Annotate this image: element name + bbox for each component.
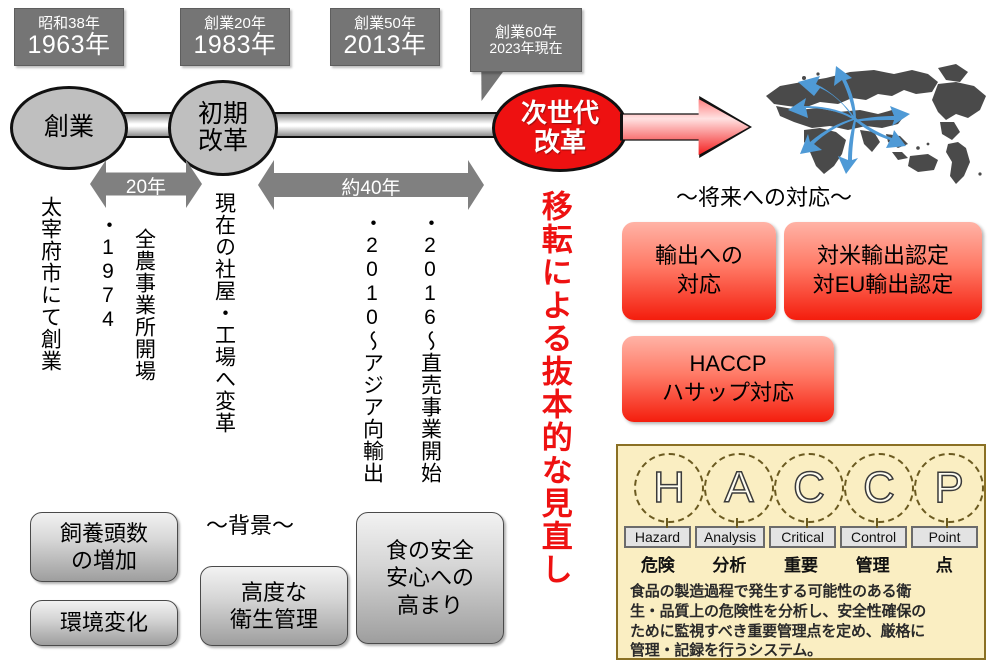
year-label-era: 創業20年	[204, 16, 266, 32]
haccp-circle-c2: C	[844, 453, 914, 523]
haccp-description: 食品の製造過程で発生する可能性のある衛 生・品質上の危険性を分析し、安全性確保の…	[624, 580, 978, 661]
haccp-letter: H	[653, 466, 685, 510]
haccp-term-hazard: Hazard	[624, 526, 691, 548]
haccp-explainer-panel: H A C C P Hazard Analysis Critical Contr…	[616, 444, 986, 660]
haccp-jp-term-row: 危険 分析 重要 管理 点	[624, 551, 978, 576]
span-arrow-label: 20年	[126, 172, 166, 199]
box-line-1: 高度な	[241, 579, 307, 607]
box-line-1: HACCP	[689, 350, 766, 379]
year-label-1963: 昭和38年 1963年	[14, 8, 124, 66]
year-label-year: 1963年	[27, 32, 110, 58]
vertical-highlight-relocation: 移転による抜本的な見直し	[536, 190, 571, 570]
haccp-description-line: 生・品質上の危険性を分析し、安全性確保の	[630, 602, 972, 622]
background-heading: 〜背景〜	[206, 508, 294, 540]
node-label-line2: 改革	[534, 128, 586, 157]
vertical-note-2010-asia-export: ・2010〜アジア向輸出	[360, 212, 384, 508]
year-label-era: 創業50年	[354, 16, 416, 32]
future-heading: 〜将来への対応〜	[676, 180, 852, 212]
haccp-jp-term-ten: 点	[910, 551, 978, 576]
future-box-export-response: 輸出への 対応	[622, 222, 776, 320]
haccp-description-line: ために監視すべき重要管理点を定め、厳格に	[630, 622, 972, 642]
box-line-1: 対米輸出認定	[817, 242, 949, 271]
span-arrow-20-years: 20年	[90, 160, 202, 208]
vertical-note-facility-reform: 現在の社屋・工場へ変革	[212, 192, 236, 482]
vertical-note-founding-city: 太宰府市にて創業	[38, 196, 62, 446]
background-box-livestock-increase: 飼養頭数 の増加	[30, 512, 178, 582]
box-line-1: 食の安全	[386, 537, 474, 565]
node-label-line2: 改革	[198, 128, 248, 156]
haccp-letter: C	[793, 466, 825, 510]
haccp-stem-icon	[946, 518, 948, 528]
haccp-circle-a: A	[704, 453, 774, 523]
box-line-2: 対EU輸出認定	[813, 271, 954, 300]
box-line-2: の増加	[71, 547, 137, 575]
timeline-node-founding: 創業	[10, 86, 128, 170]
haccp-letter: P	[934, 466, 963, 510]
box-line-3: 高まり	[397, 592, 463, 620]
haccp-letter: C	[863, 466, 895, 510]
box-line-1: 輸出への	[655, 242, 743, 271]
haccp-jp-term-bunseki: 分析	[696, 551, 764, 576]
node-label-line1: 次世代	[521, 99, 599, 128]
timeline-node-next-gen-reform: 次世代 改革	[492, 84, 628, 172]
haccp-letter: A	[724, 466, 753, 510]
background-box-food-safety: 食の安全 安心への 高まり	[356, 512, 504, 644]
haccp-term-critical: Critical	[769, 526, 836, 548]
haccp-stem-icon	[736, 518, 738, 528]
haccp-circle-c1: C	[774, 453, 844, 523]
vertical-note-2016-direct-sales: ・2016〜直売事業開始	[418, 212, 442, 508]
future-arrow-icon	[623, 99, 749, 155]
haccp-term-control: Control	[840, 526, 907, 548]
box-line-2: 対応	[677, 271, 721, 300]
haccp-term-point: Point	[911, 526, 978, 548]
haccp-jp-term-juyo: 重要	[767, 551, 835, 576]
haccp-description-line: 管理・記録を行うシステム。	[630, 641, 972, 661]
year-label-era: 昭和38年	[38, 16, 100, 32]
box-line-2: 衛生管理	[230, 606, 318, 634]
span-arrow-about-40-years: 約40年	[258, 160, 484, 210]
haccp-jp-term-kiken: 危険	[624, 551, 692, 576]
haccp-stem-icon	[806, 518, 808, 528]
callout-era: 創業60年	[495, 25, 557, 41]
year-label-year: 1983年	[193, 32, 276, 58]
node-label-line1: 初期	[198, 101, 248, 129]
box-line-2: ハサップ対応	[662, 379, 794, 408]
background-box-hygiene-management: 高度な 衛生管理	[200, 566, 348, 646]
haccp-jp-term-kanri: 管理	[839, 551, 907, 576]
world-map-icon	[742, 48, 992, 188]
span-arrow-label: 約40年	[341, 173, 400, 200]
future-box-haccp-response: HACCP ハサップ対応	[622, 336, 834, 422]
haccp-stem-icon	[666, 518, 668, 528]
vertical-note-1974-line2: 全農事業所開場	[132, 228, 156, 418]
year-label-2013: 創業50年 2013年	[330, 8, 440, 66]
haccp-stem-icon	[876, 518, 878, 528]
box-line-1: 環境変化	[60, 609, 148, 637]
background-box-environment-change: 環境変化	[30, 600, 178, 646]
vertical-note-1974-line1: ・1974	[96, 214, 120, 324]
callout-2023: 創業60年 2023年現在	[470, 8, 580, 70]
box-line-2: 安心への	[386, 564, 474, 592]
timeline-rail-2	[270, 112, 530, 138]
haccp-letter-circles: H A C C P	[624, 452, 978, 524]
year-label-1983: 創業20年 1983年	[180, 8, 290, 66]
node-label-line1: 創業	[44, 114, 94, 142]
timeline-node-early-reform: 初期 改革	[168, 80, 278, 176]
haccp-description-line: 食品の製造過程で発生する可能性のある衛	[630, 582, 972, 602]
year-label-year: 2013年	[343, 32, 426, 58]
box-line-1: 飼養頭数	[60, 520, 148, 548]
haccp-circle-h: H	[634, 453, 704, 523]
future-box-export-certifications: 対米輸出認定 対EU輸出認定	[784, 222, 982, 320]
haccp-circle-p: P	[914, 453, 984, 523]
haccp-term-row: Hazard Analysis Critical Control Point	[624, 526, 978, 548]
callout-sub: 2023年現在	[489, 41, 562, 56]
haccp-term-analysis: Analysis	[695, 526, 765, 548]
